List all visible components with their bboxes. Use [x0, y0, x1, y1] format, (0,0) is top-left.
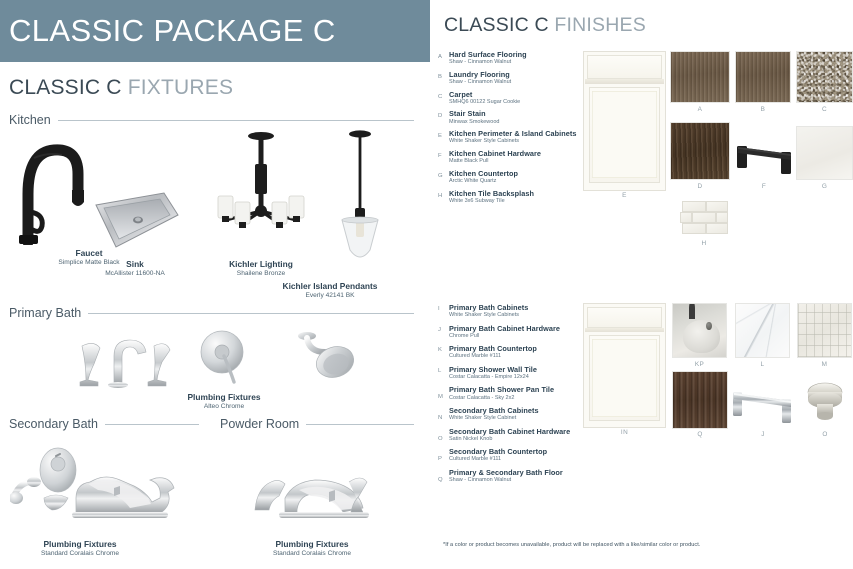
- caption-primary-bath-plumbing: Plumbing Fixtures Alteo Chrome: [134, 392, 314, 411]
- swatch-label-B: B: [735, 106, 791, 113]
- swatch-bath-countertop: [672, 303, 727, 358]
- package-title: CLASSIC PACKAGE C: [0, 13, 336, 49]
- legend-item: F Kitchen Cabinet Hardware Matte Black P…: [438, 149, 588, 165]
- swatch-secondary-bath-hardware: [800, 378, 850, 428]
- swatch-laundry-flooring: [735, 51, 791, 103]
- swatch-kitchen-cabinet: [583, 51, 666, 191]
- satin-nickel-knob-icon: [800, 378, 850, 428]
- package-banner: CLASSIC PACKAGE C: [0, 0, 430, 62]
- caption-island-pendants: Kichler Island Pendants Everly 42141 BK: [240, 281, 420, 300]
- legend-item: C Carpet SMHQ6 00122 Sugar Cookie: [438, 90, 588, 106]
- swatch-shower-wall-tile: [735, 303, 790, 358]
- mosaic-tile-texture: [797, 303, 852, 358]
- section-divider: [306, 424, 414, 425]
- finishes-heading-secondary: FINISHES: [554, 14, 646, 36]
- kitchen-faucet-image: [14, 130, 94, 245]
- island-pendant-image: [330, 128, 390, 273]
- basin-drain: [706, 322, 712, 330]
- swatch-label-KP: KP: [672, 361, 727, 368]
- primary-bath-showerhead-image: [295, 330, 361, 382]
- legend-item: L Primary Shower Wall Tile Costar Calaca…: [438, 365, 588, 381]
- fixtures-heading: CLASSIC C FIXTURES: [9, 76, 233, 100]
- legend-item: H Kitchen Tile Backsplash White 3x6 Subw…: [438, 189, 588, 205]
- primary-bath-widespread-faucet-image: [78, 330, 173, 388]
- fixtures-column: CLASSIC PACKAGE C CLASSIC C FIXTURES Kit…: [0, 0, 430, 569]
- section-divider: [58, 120, 414, 121]
- cabinet-door-image: [583, 51, 666, 191]
- swatch-label-O: O: [800, 431, 850, 438]
- finishes-heading-primary: CLASSIC C: [444, 14, 549, 36]
- cabinet-drawer: [587, 307, 663, 328]
- calacatta-marble-texture: [735, 303, 790, 358]
- cabinet-panel-center: [592, 91, 657, 178]
- legend-item: Q Primary & Secondary Bath Floor Shaw - …: [438, 468, 588, 484]
- section-divider: [105, 424, 199, 425]
- subway-tile: [682, 201, 706, 212]
- subway-tile: [692, 212, 716, 223]
- section-divider: [88, 313, 414, 314]
- section-label-powder-room: Powder Room: [220, 417, 299, 431]
- finish-legend-top: A Hard Surface Flooring Shaw - Cinnamon …: [438, 50, 588, 208]
- stain-wood-texture: [670, 122, 730, 180]
- chrome-bar-pull-icon: [730, 386, 796, 428]
- basin-faucet: [689, 304, 695, 319]
- subway-tile: [706, 201, 728, 212]
- swatch-kitchen-cabinet-hardware: [733, 138, 795, 180]
- legend-item: D Stair Stain Minwax Smokewood: [438, 109, 588, 125]
- matte-black-bar-pull-icon: [733, 138, 795, 180]
- kitchen-lighting-image: [216, 130, 306, 250]
- wood-plank-texture: [670, 51, 730, 103]
- section-label-kitchen: Kitchen: [9, 113, 51, 127]
- disclaimer-footnote: *If a color or product becomes unavailab…: [443, 542, 700, 548]
- basin-bowl: [673, 304, 726, 357]
- quartz-texture: [796, 126, 853, 180]
- swatch-bath-cabinet: [583, 303, 666, 428]
- finishes-heading: CLASSIC C FINISHES: [444, 14, 646, 37]
- swatch-kitchen-backsplash: [680, 201, 728, 237]
- legend-item: N Secondary Bath Cabinets White Shaker S…: [438, 406, 588, 422]
- secondary-bath-plumbing-image: [10, 440, 190, 530]
- cabinet-panel-center: [592, 339, 657, 416]
- section-header-secondary-bath: Secondary Bath: [9, 417, 199, 431]
- swatch-label-F: F: [733, 183, 795, 190]
- swatch-label-L: L: [735, 361, 790, 368]
- swatch-label-Q: Q: [672, 431, 728, 438]
- legend-item: P Secondary Bath Countertop Cultured Mar…: [438, 447, 588, 463]
- swatch-label-G: G: [796, 183, 853, 190]
- caption-kitchen-lighting: Kichler Lighting Shailene Bronze: [171, 259, 351, 278]
- section-header-powder-room: Powder Room: [220, 417, 414, 431]
- legend-item: B Laundry Flooring Shaw - Cinnamon Walnu…: [438, 70, 588, 86]
- cabinet-drawer-lip: [585, 79, 664, 84]
- cabinet-drawer: [587, 55, 663, 78]
- swatch-kitchen-countertop: [796, 126, 853, 180]
- swatch-label-C: C: [796, 106, 853, 113]
- cultured-marble-basin-image: [672, 303, 727, 358]
- legend-item: A Hard Surface Flooring Shaw - Cinnamon …: [438, 50, 588, 66]
- swatch-bath-floor: [672, 371, 728, 429]
- legend-item: E Kitchen Perimeter & Island Cabinets Wh…: [438, 129, 588, 145]
- swatch-hard-surface-flooring: [670, 51, 730, 103]
- legend-item: K Primary Bath Countertop Cultured Marbl…: [438, 344, 588, 360]
- fixtures-heading-primary: CLASSIC C: [9, 76, 122, 99]
- section-label-primary-bath: Primary Bath: [9, 306, 81, 320]
- cabinet-door-image: [583, 303, 666, 428]
- swatch-label-J: J: [730, 431, 796, 438]
- legend-item: G Kitchen Countertop Arctic White Quartz: [438, 169, 588, 185]
- swatch-label-M: M: [797, 361, 852, 368]
- caption-secondary-bath-plumbing: Plumbing Fixtures Standard Coralais Chro…: [0, 539, 170, 558]
- swatch-label-H: H: [680, 240, 728, 247]
- swatch-stair-stain: [670, 122, 730, 180]
- swatch-carpet: [796, 51, 853, 103]
- wood-plank-texture: [672, 371, 728, 429]
- subway-tile: [716, 212, 728, 223]
- swatch-label-A: A: [670, 106, 730, 113]
- finish-legend-bottom: I Primary Bath Cabinets White Shaker Sty…: [438, 303, 588, 488]
- legend-item: J Primary Bath Cabinet Hardware Chrome P…: [438, 324, 588, 340]
- swatch-shower-pan-tile: [797, 303, 852, 358]
- swatch-label-E: E: [583, 192, 666, 199]
- section-header-primary-bath: Primary Bath: [9, 306, 414, 320]
- subway-tile: [682, 223, 706, 234]
- primary-bath-shower-valve-image: [196, 330, 251, 385]
- section-header-kitchen: Kitchen: [9, 113, 414, 127]
- carpet-texture: [796, 51, 853, 103]
- legend-item: I Primary Bath Cabinets White Shaker Sty…: [438, 303, 588, 319]
- caption-powder-room-plumbing: Plumbing Fixtures Standard Coralais Chro…: [222, 539, 402, 558]
- kitchen-sink-image: [90, 185, 180, 260]
- fixtures-heading-secondary: FIXTURES: [128, 76, 233, 99]
- finish-schedule-page: CLASSIC PACKAGE C CLASSIC C FIXTURES Kit…: [0, 0, 853, 569]
- swatch-label-D: D: [670, 183, 730, 190]
- swatch-primary-bath-hardware: [730, 386, 796, 428]
- subway-tile: [706, 223, 728, 234]
- wood-plank-texture: [735, 51, 791, 103]
- legend-item: M Primary Bath Shower Pan Tile Costar Ca…: [438, 385, 588, 401]
- subway-tile: [680, 212, 692, 223]
- legend-item: O Secondary Bath Cabinet Hardware Satin …: [438, 427, 588, 443]
- swatch-label-IN: IN: [583, 429, 666, 436]
- section-label-secondary-bath: Secondary Bath: [9, 417, 98, 431]
- cabinet-drawer-lip: [585, 328, 664, 332]
- powder-room-plumbing-image: [245, 448, 370, 523]
